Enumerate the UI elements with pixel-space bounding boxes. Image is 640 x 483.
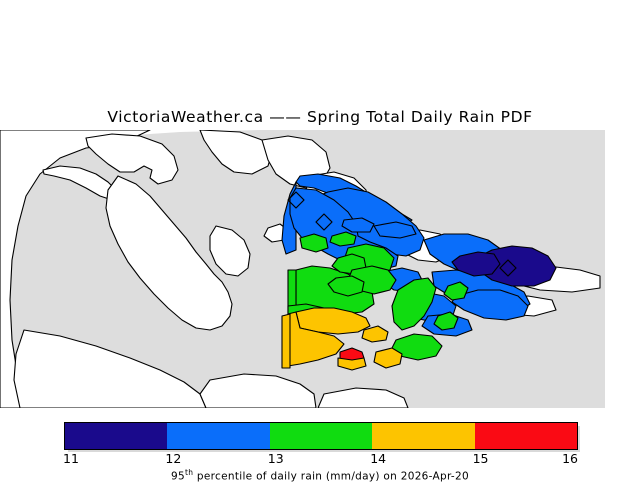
colorbar-band-11-12[interactable] [65, 423, 167, 449]
colorbar-area: 111213141516 95th percentile of daily ra… [0, 418, 640, 478]
colorbar-tick-12: 12 [165, 451, 181, 466]
caption-description: percentile of daily rain (mm/day) on 202… [193, 471, 469, 483]
colorbar[interactable] [64, 422, 578, 450]
region-orange-west-strip[interactable] [282, 314, 290, 368]
colorbar-tick-14: 14 [370, 451, 386, 466]
colorbar-tick-11: 11 [63, 451, 79, 466]
map-figure [0, 130, 640, 408]
colorbar-band-12-13[interactable] [167, 423, 269, 449]
colorbar-tick-15: 15 [473, 451, 489, 466]
weather-map-page: VictoriaWeather.ca —— Spring Total Daily… [0, 0, 640, 480]
colorbar-tick-13: 13 [268, 451, 284, 466]
page-title: VictoriaWeather.ca —— Spring Total Daily… [0, 108, 640, 126]
map-canvas[interactable] [0, 130, 640, 408]
colorbar-band-15-16[interactable] [475, 423, 577, 449]
colorbar-tick-16: 16 [562, 451, 578, 466]
colorbar-band-13-14[interactable] [270, 423, 372, 449]
colorbar-band-14-15[interactable] [372, 423, 474, 449]
colorbar-tick-labels: 111213141516 [0, 451, 640, 467]
colorbar-caption: 95th percentile of daily rain (mm/day) o… [0, 468, 640, 483]
caption-percentile-number: 95 [171, 471, 185, 483]
